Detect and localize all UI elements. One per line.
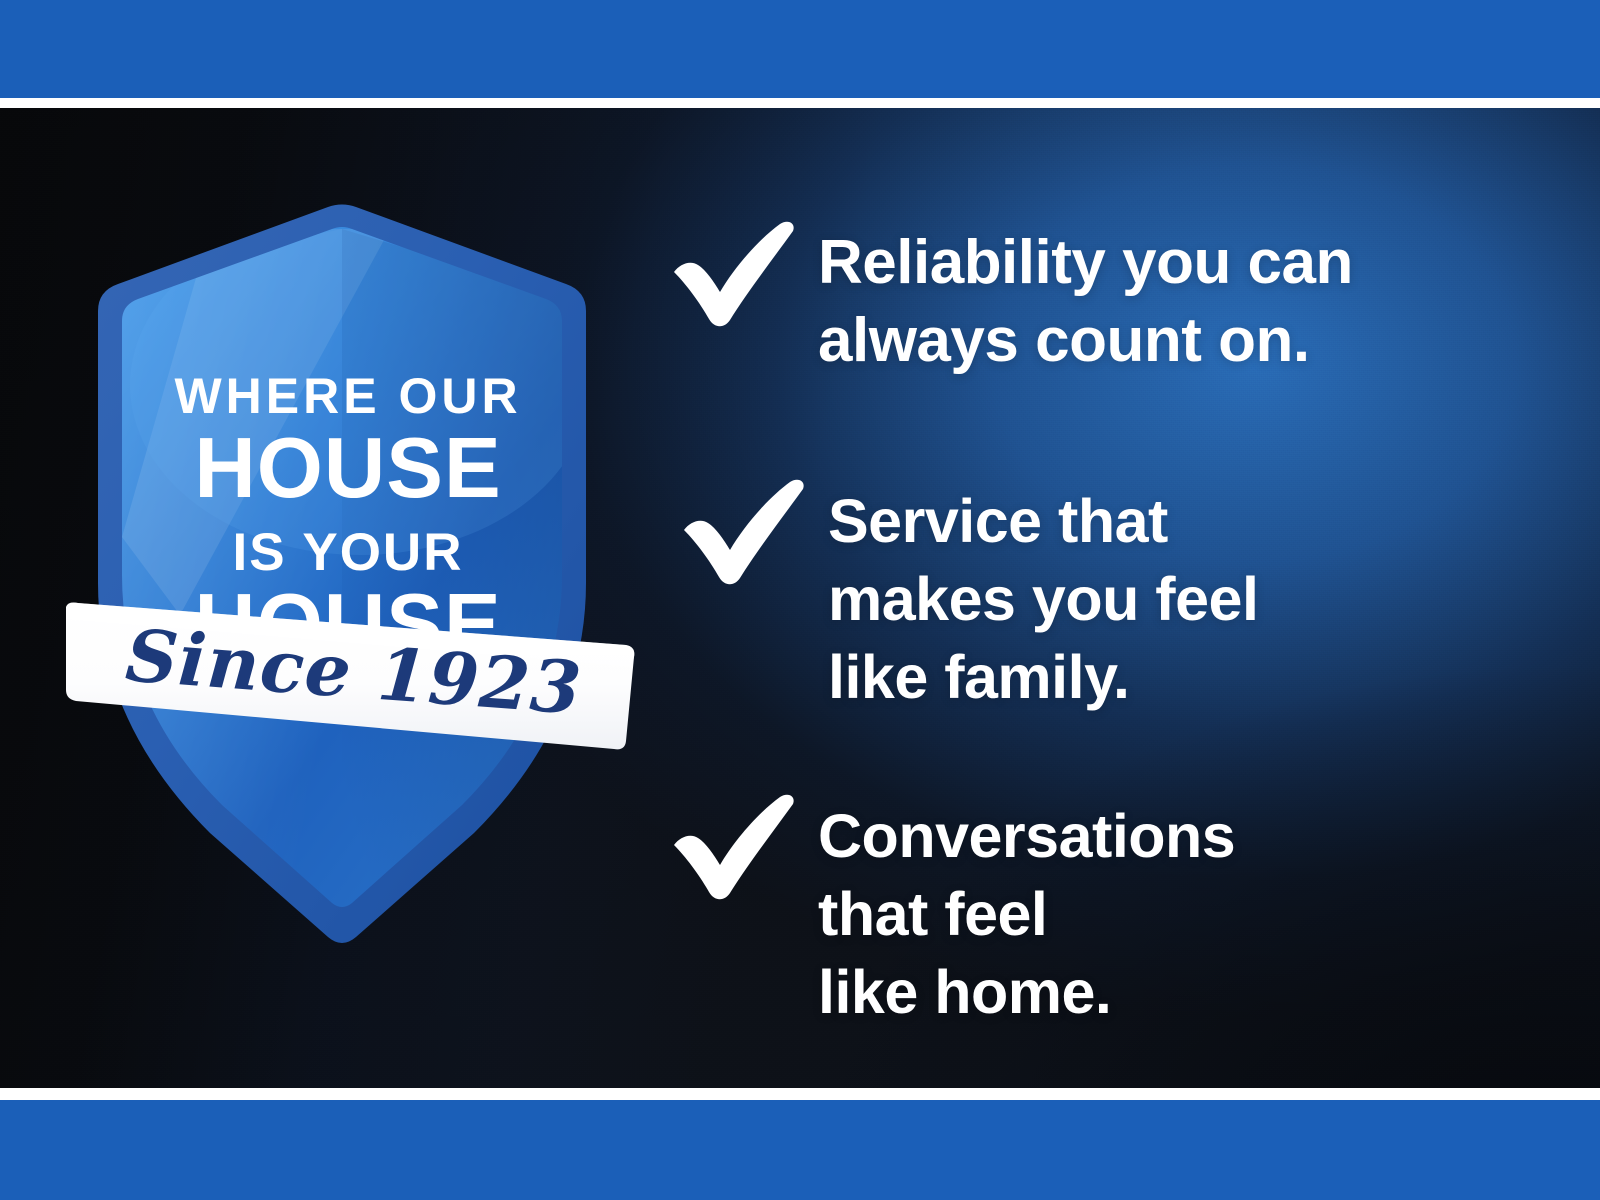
badge-line-2: HOUSE [194, 421, 501, 516]
benefit-item-2: Service that makes you feel like family. [670, 478, 1258, 716]
benefit-text-2: Service that makes you feel like family. [828, 478, 1258, 716]
check-icon [660, 220, 796, 328]
benefit-item-1: Reliability you can always count on. [660, 220, 1353, 380]
top-brand-bar [0, 0, 1600, 98]
badge-line-1: WHERE OUR [174, 368, 521, 424]
shield-badge: WHERE OUR HOUSE IS YOUR HOUSE Since 1923 [60, 145, 640, 945]
promo-graphic-canvas: WHERE OUR HOUSE IS YOUR HOUSE Since 1923… [0, 0, 1600, 1200]
benefits-list: Reliability you can always count on. Ser… [660, 108, 1600, 1088]
bottom-white-divider [0, 1088, 1600, 1100]
benefit-item-3: Conversations that feel like home. [660, 793, 1235, 1031]
benefit-text-3: Conversations that feel like home. [818, 793, 1235, 1031]
badge-line-3: IS YOUR [233, 523, 464, 582]
bottom-brand-bar [0, 1100, 1600, 1200]
benefit-text-1: Reliability you can always count on. [818, 220, 1353, 380]
check-icon [670, 478, 806, 586]
top-white-divider [0, 98, 1600, 108]
check-icon [660, 793, 796, 901]
